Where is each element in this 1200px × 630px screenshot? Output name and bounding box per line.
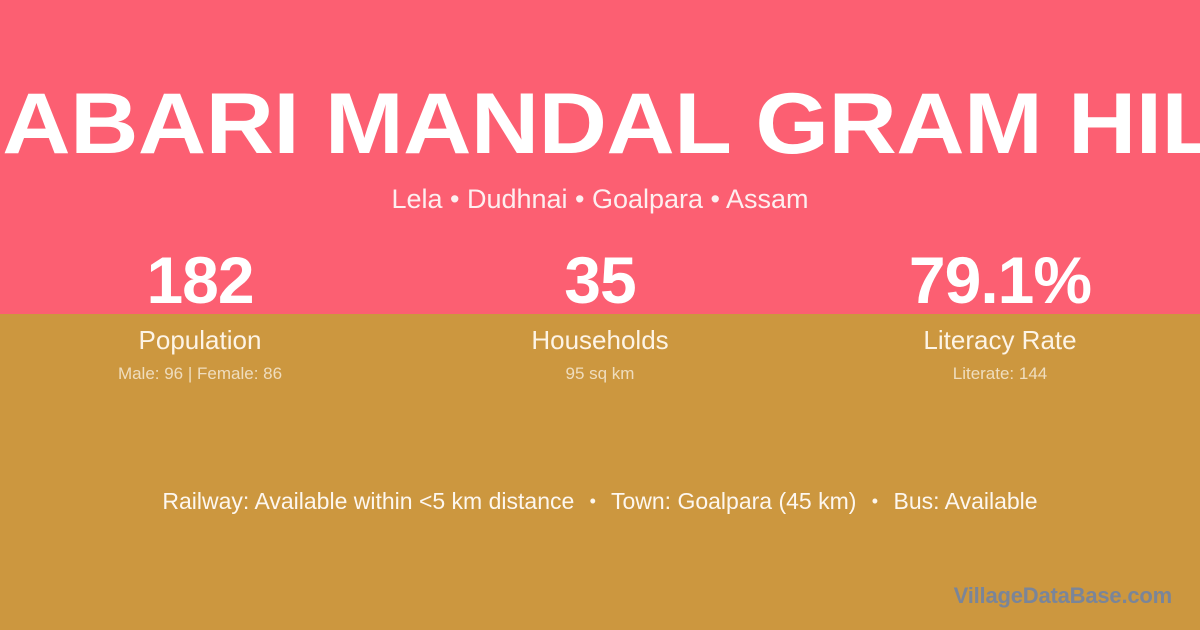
village-info-card: GUABARI MANDAL GRAM HILLS Lela • Dudhnai… [0,0,1200,630]
page-title: GUABARI MANDAL GRAM HILLS [0,74,1200,174]
stats-row: 182 Population Male: 96 | Female: 86 35 … [0,246,1200,385]
stat-value: 79.1% [800,246,1200,314]
stat-sub-detail: 95 sq km [400,363,800,385]
info-town: Town: Goalpara (45 km) [611,488,856,514]
stat-population: 182 Population Male: 96 | Female: 86 [0,246,400,385]
info-separator-icon: • [863,486,887,516]
stat-label: Literacy Rate [800,324,1200,356]
info-railway: Railway: Available within <5 km distance [162,488,574,514]
amenities-info-line: Railway: Available within <5 km distance… [0,486,1200,516]
card-header: GUABARI MANDAL GRAM HILLS Lela • Dudhnai… [0,0,1200,240]
stat-label: Population [0,324,400,356]
breadcrumb-subtitle: Lela • Dudhnai • Goalpara • Assam [0,181,1200,217]
info-bus: Bus: Available [894,488,1038,514]
site-brand-logo[interactable]: VillageDataBase.com [954,582,1172,610]
stat-sub-detail: Male: 96 | Female: 86 [0,363,400,385]
stat-sub-detail: Literate: 144 [800,363,1200,385]
info-separator-icon: • [581,486,605,516]
stat-literacy-rate: 79.1% Literacy Rate Literate: 144 [800,246,1200,385]
stat-households: 35 Households 95 sq km [400,246,800,385]
stat-value: 35 [400,246,800,314]
stat-label: Households [400,324,800,356]
stat-value: 182 [0,246,400,314]
